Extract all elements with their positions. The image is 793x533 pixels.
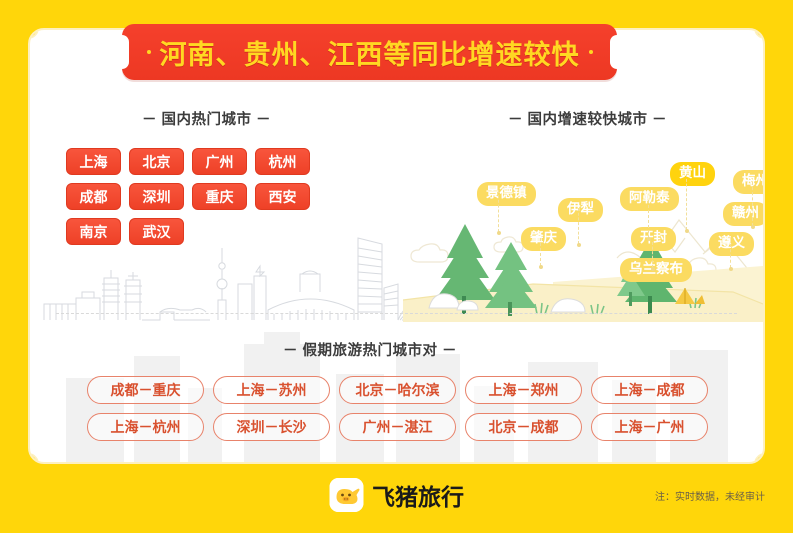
- city-pair-tag[interactable]: 成都－重庆: [87, 376, 204, 404]
- city-pair-tag[interactable]: 上海－杭州: [87, 413, 204, 441]
- brand-name: 飞猪旅行: [372, 478, 464, 512]
- growth-city-tag[interactable]: 赣州: [723, 202, 765, 226]
- fast-growth-heading: － 国内增速较快城市 －: [508, 108, 667, 129]
- growth-city-tag[interactable]: 景德镇: [477, 182, 536, 206]
- corner-notch-top-left: [28, 28, 39, 39]
- infographic-page: － 国内热门城市 － － 国内增速较快城市 － － 假期旅游热门城市对 － 上海…: [0, 0, 793, 533]
- growth-city-tag[interactable]: 阿勒泰: [620, 187, 679, 211]
- pin-line: [540, 238, 541, 266]
- hot-city-tag[interactable]: 广州: [192, 148, 247, 175]
- city-pair-tag[interactable]: 北京－成都: [465, 413, 582, 441]
- banner-title: 河南、贵州、江西等同比增速较快: [160, 33, 580, 72]
- city-pair-tag[interactable]: 上海－苏州: [213, 376, 330, 404]
- city-pair-tag[interactable]: 广州－湛江: [339, 413, 456, 441]
- city-pair-tag[interactable]: 上海－广州: [591, 413, 708, 441]
- holiday-pairs-tag-list: 成都－重庆 上海－苏州 北京－哈尔滨 上海－郑州 上海－成都 上海－杭州 深圳－…: [87, 376, 717, 441]
- fast-growth-tag-list: 景德镇 伊犁 阿勒泰 黄山 梅州 赣州 肇庆 开封 遵义 乌兰察布: [430, 134, 765, 339]
- city-pair-tag[interactable]: 北京－哈尔滨: [339, 376, 456, 404]
- holiday-pairs-heading: － 假期旅游热门城市对 －: [283, 339, 457, 360]
- growth-city-tag[interactable]: 遵义: [709, 232, 754, 256]
- city-pair-tag[interactable]: 深圳－长沙: [213, 413, 330, 441]
- pin-line: [652, 242, 653, 268]
- pin-line: [578, 208, 579, 244]
- growth-city-tag[interactable]: 开封: [631, 227, 676, 251]
- corner-notch-top-right: [754, 28, 765, 39]
- hot-cities-heading: － 国内热门城市 －: [142, 108, 271, 129]
- city-pair-tag[interactable]: 上海－郑州: [465, 376, 582, 404]
- growth-city-tag[interactable]: 乌兰察布: [620, 258, 692, 282]
- hot-city-tag[interactable]: 南京: [66, 218, 121, 245]
- hot-city-tag[interactable]: 杭州: [255, 148, 310, 175]
- hot-city-tag[interactable]: 重庆: [192, 183, 247, 210]
- pin-line: [686, 174, 687, 230]
- brand-logo[interactable]: 飞猪旅行: [329, 478, 464, 512]
- hot-city-tag[interactable]: 成都: [66, 183, 121, 210]
- hot-city-tag[interactable]: 上海: [66, 148, 121, 175]
- pin-line: [730, 244, 731, 268]
- footer: 飞猪旅行 注：实时数据，未经审计: [0, 464, 793, 533]
- hot-city-tag[interactable]: 武汉: [129, 218, 184, 245]
- pin-line: [648, 200, 649, 238]
- hot-cities-tag-list: 上海 北京 广州 杭州 成都 深圳 重庆 西安 南京 武汉: [66, 148, 366, 245]
- content-card: － 国内热门城市 － － 国内增速较快城市 － － 假期旅游热门城市对 － 上海…: [28, 28, 765, 464]
- hot-city-tag[interactable]: 北京: [129, 148, 184, 175]
- growth-city-tag[interactable]: 梅州: [733, 170, 765, 194]
- growth-city-tag[interactable]: 黄山: [670, 162, 715, 186]
- pin-line: [498, 190, 499, 232]
- growth-city-tag[interactable]: 肇庆: [521, 227, 566, 251]
- fliggy-mascot-icon: [329, 478, 363, 512]
- hot-city-tag[interactable]: 深圳: [129, 183, 184, 210]
- pin-line: [752, 182, 753, 226]
- city-pair-tag[interactable]: 上海－成都: [591, 376, 708, 404]
- banner-dot-left-icon: [147, 50, 151, 54]
- hot-city-tag[interactable]: 西安: [255, 183, 310, 210]
- banner-dot-right-icon: [589, 50, 593, 54]
- title-banner: 河南、贵州、江西等同比增速较快: [122, 24, 617, 80]
- growth-city-tag[interactable]: 伊犁: [558, 198, 603, 222]
- footer-note: 注：实时数据，未经审计: [655, 488, 765, 503]
